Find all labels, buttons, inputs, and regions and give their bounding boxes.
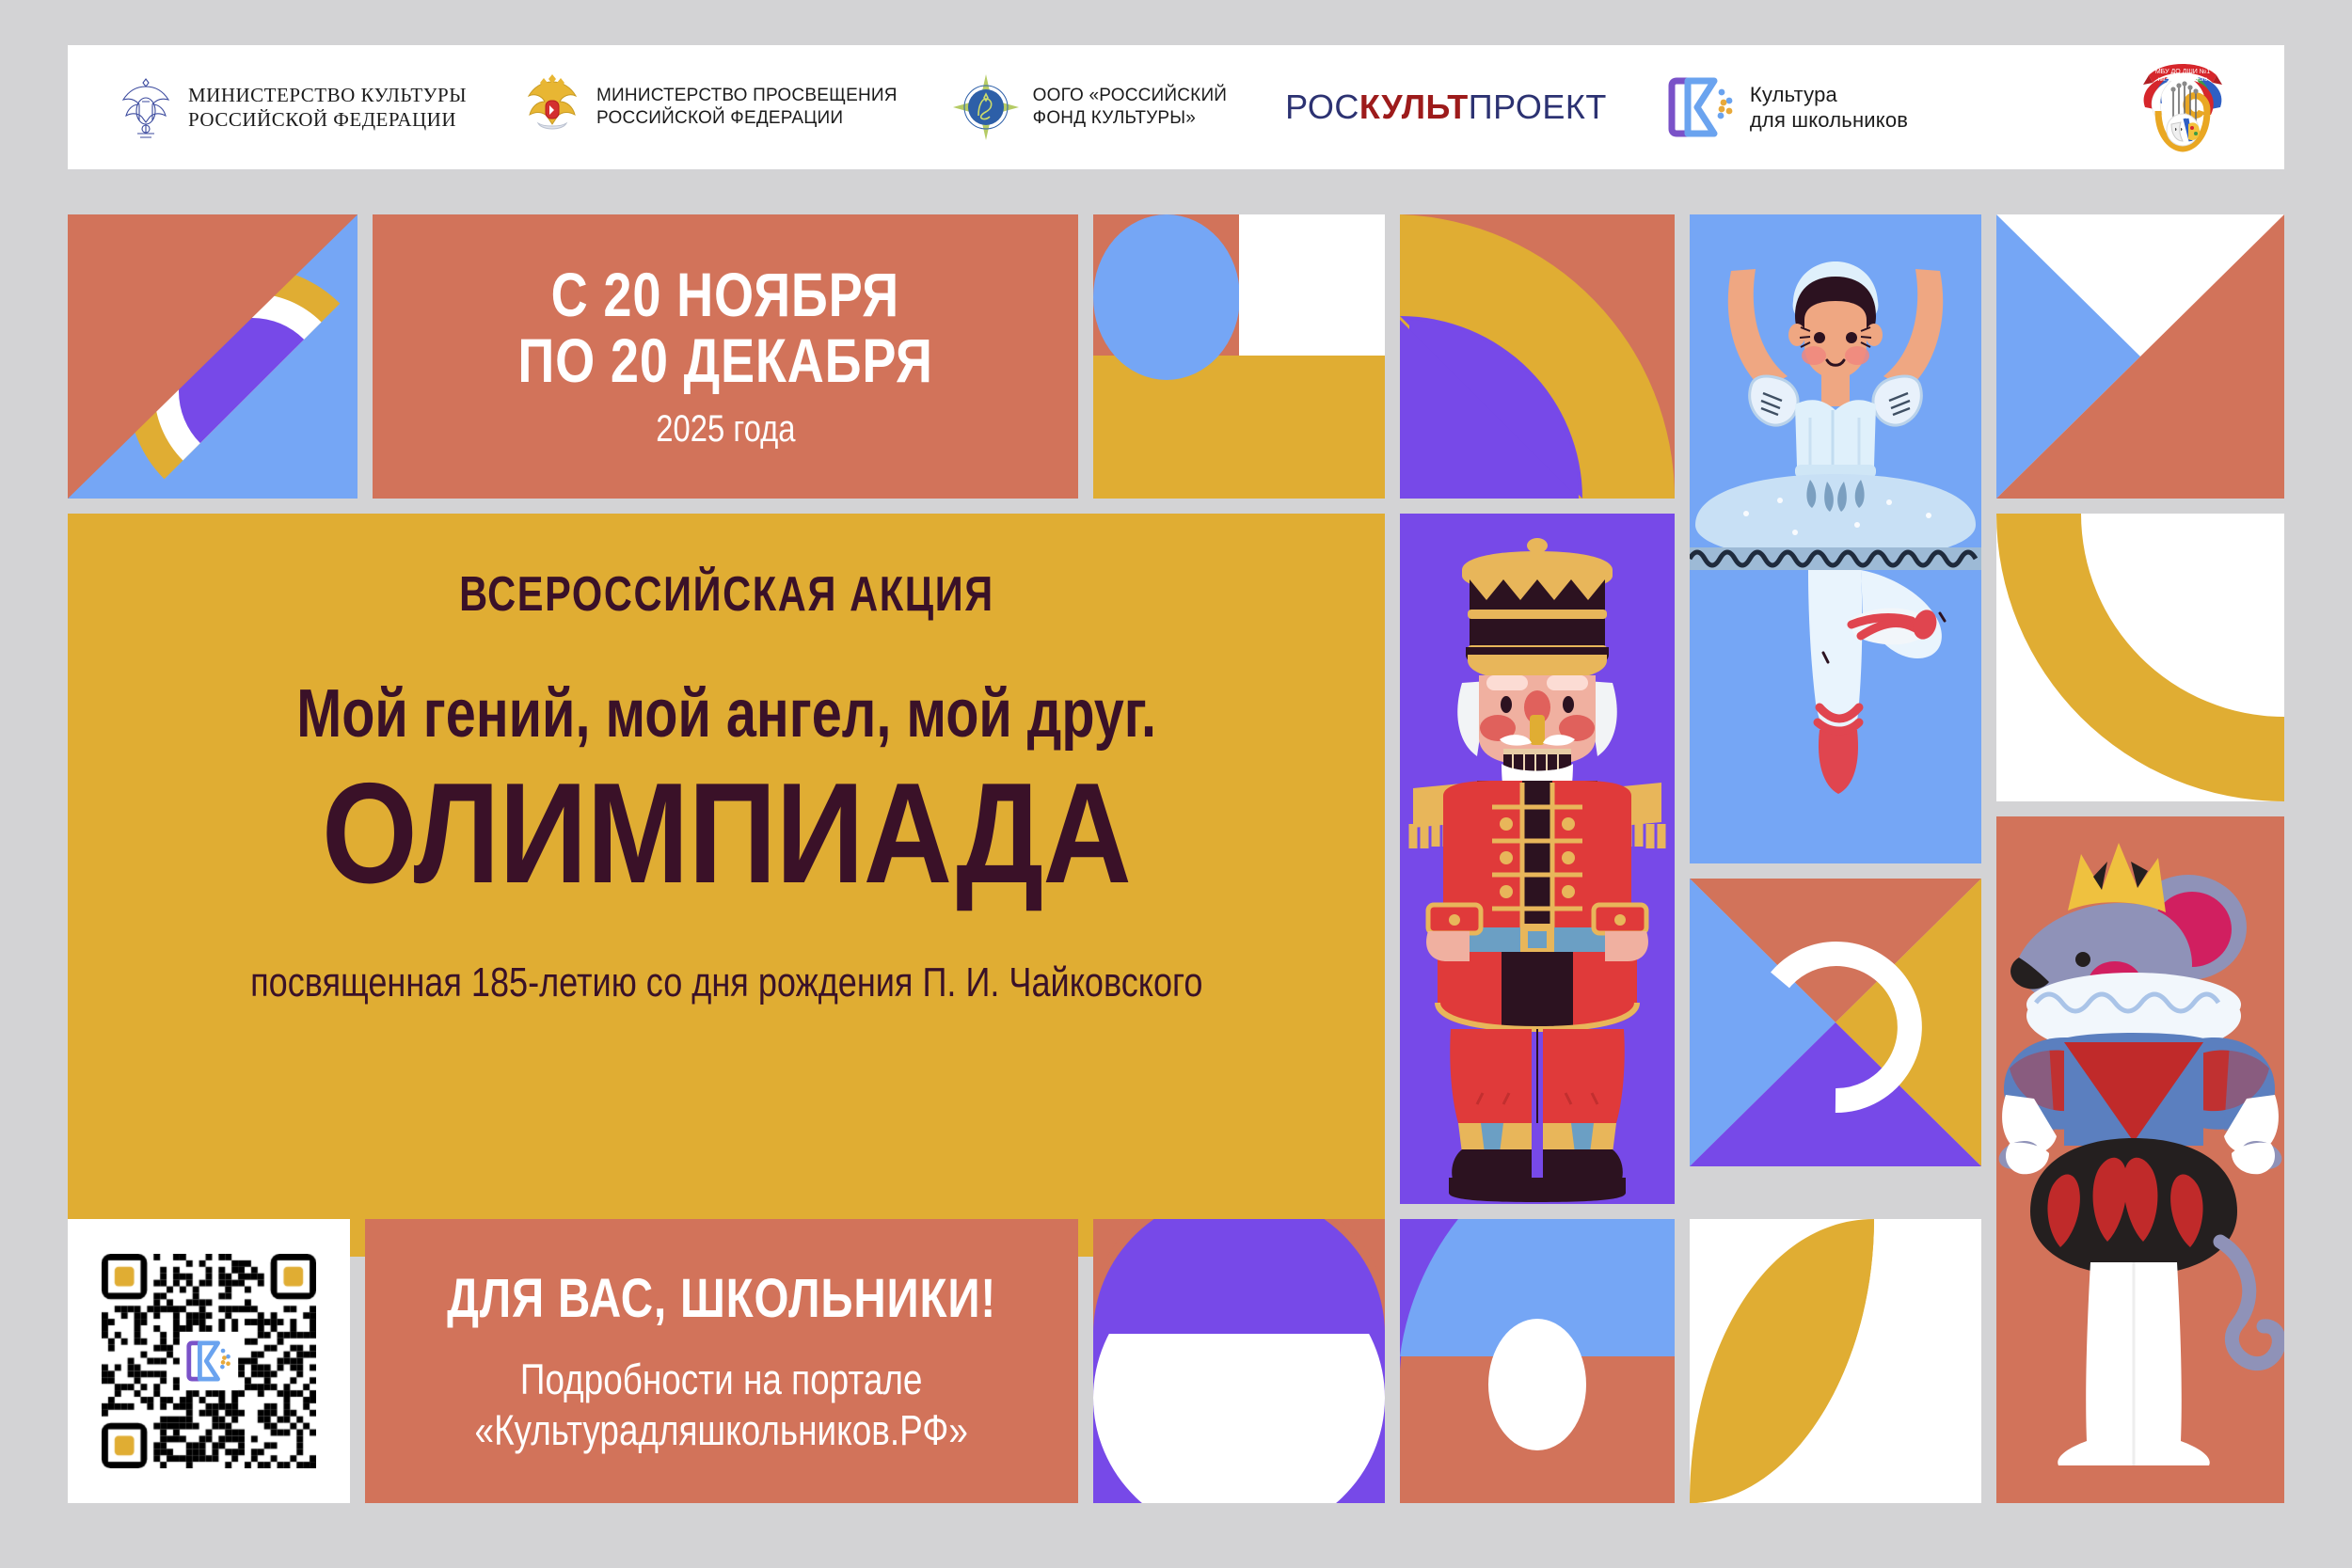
logo-music-school-emblem: МБУ ДО ДШИ №1 им. П. Чайковского: [2132, 45, 2233, 169]
deco-right-arc: [1996, 514, 2284, 801]
deco-top-left: [68, 214, 358, 499]
logo-ministry-of-education: МИНИСТЕРСТВО ПРОСВЕЩЕНИЯ РОССИЙСКОЙ ФЕДЕ…: [521, 45, 898, 169]
date-panel: С 20 НОЯБРЯ ПО 20 ДЕКАБРЯ 2025 года: [373, 214, 1078, 499]
lyre-tricolor-emblem-icon: МБУ ДО ДШИ №1 им. П. Чайковского: [2132, 58, 2233, 156]
deco-bottom-b: [1400, 1219, 1675, 1503]
deco-top-mid-b: [1400, 214, 1675, 499]
deco-top-right: [1996, 214, 2284, 499]
cta-line-1: Подробности на портале: [520, 1354, 922, 1404]
date-year: 2025 года: [656, 408, 795, 451]
illustration-ballerina: [1690, 214, 1981, 863]
qr-center-logo: [180, 1332, 238, 1390]
dedication-text: посвященная 185-летию со дня рождения П.…: [250, 959, 1202, 1006]
logo-roskultproekt: РОСКУЛЬТПРОЕКТ: [1285, 45, 1607, 169]
poster-root: МИНИСТЕРСТВО КУЛЬТУРЫ РОССИЙСКОЙ ФЕДЕРАЦ…: [0, 0, 2352, 1568]
logo-russian-culture-fund: ООГО «РОССИЙСКИЙ ФОНД КУЛЬТУРЫ»: [952, 45, 1228, 169]
logo-russian-culture-fund-text: ООГО «РОССИЙСКИЙ ФОНД КУЛЬТУРЫ»: [1033, 85, 1228, 130]
logo-ministry-of-education-text: МИНИСТЕРСТВО ПРОСВЕЩЕНИЯ РОССИЙСКОЙ ФЕДЕ…: [596, 85, 898, 130]
cta-heading: ДЛЯ ВАС, ШКОЛЬНИКИ!: [447, 1267, 996, 1330]
logo-ministry-of-culture-text: МИНИСТЕРСТВО КУЛЬТУРЫ РОССИЙСКОЙ ФЕДЕРАЦ…: [188, 83, 467, 133]
logo-ministry-of-culture: МИНИСТЕРСТВО КУЛЬТУРЫ РОССИЙСКОЙ ФЕДЕРАЦ…: [117, 45, 467, 169]
culture-for-schoolchildren-logo-icon: [1665, 71, 1737, 143]
russian-coat-of-arms-eagle-icon: [521, 72, 583, 142]
cta-line-2: «Культурадляшкольников.РФ»: [475, 1405, 968, 1455]
deco-bottom-a: [1093, 1219, 1385, 1503]
deco-top-mid-a: [1093, 214, 1385, 499]
kicker-text: ВСЕРОССИЙСКАЯ АКЦИЯ: [459, 566, 994, 623]
illustration-mouse-king: [1996, 816, 2284, 1503]
page-title: ОЛИМПИАДА: [322, 762, 1131, 905]
logo-culture-for-schoolchildren-text: Культура для школьников: [1750, 82, 1908, 134]
tagline-text: Мой гений, мой ангел, мой друг.: [296, 675, 1156, 752]
date-line-1: С 20 НОЯБРЯ: [551, 262, 899, 328]
school-emblem-caption-2: им. П. Чайковского: [2158, 76, 2208, 83]
starburst-medal-emblem-icon: [952, 73, 1020, 141]
deco-mid-x: [1690, 879, 1981, 1166]
header-logo-bar: МИНИСТЕРСТВО КУЛЬТУРЫ РОССИЙСКОЙ ФЕДЕРАЦ…: [68, 45, 2284, 169]
cta-panel: ДЛЯ ВАС, ШКОЛЬНИКИ! Подробности на порта…: [365, 1219, 1078, 1503]
double-headed-eagle-lyre-emblem-icon: [117, 73, 175, 141]
date-line-2: ПО 20 ДЕКАБРЯ: [517, 328, 932, 394]
qr-code[interactable]: [102, 1254, 316, 1468]
logo-culture-for-schoolchildren: Культура для школьников: [1665, 45, 1908, 169]
deco-bottom-c: [1690, 1219, 1981, 1503]
qr-panel[interactable]: [68, 1219, 350, 1503]
roskultproekt-wordmark: РОСКУЛЬТПРОЕКТ: [1285, 87, 1607, 127]
main-title-panel: ВСЕРОССИЙСКАЯ АКЦИЯ Мой гений, мой ангел…: [68, 514, 1385, 1257]
illustration-nutcracker: [1400, 514, 1675, 1204]
school-emblem-caption-1: МБУ ДО ДШИ №1: [2155, 69, 2210, 75]
